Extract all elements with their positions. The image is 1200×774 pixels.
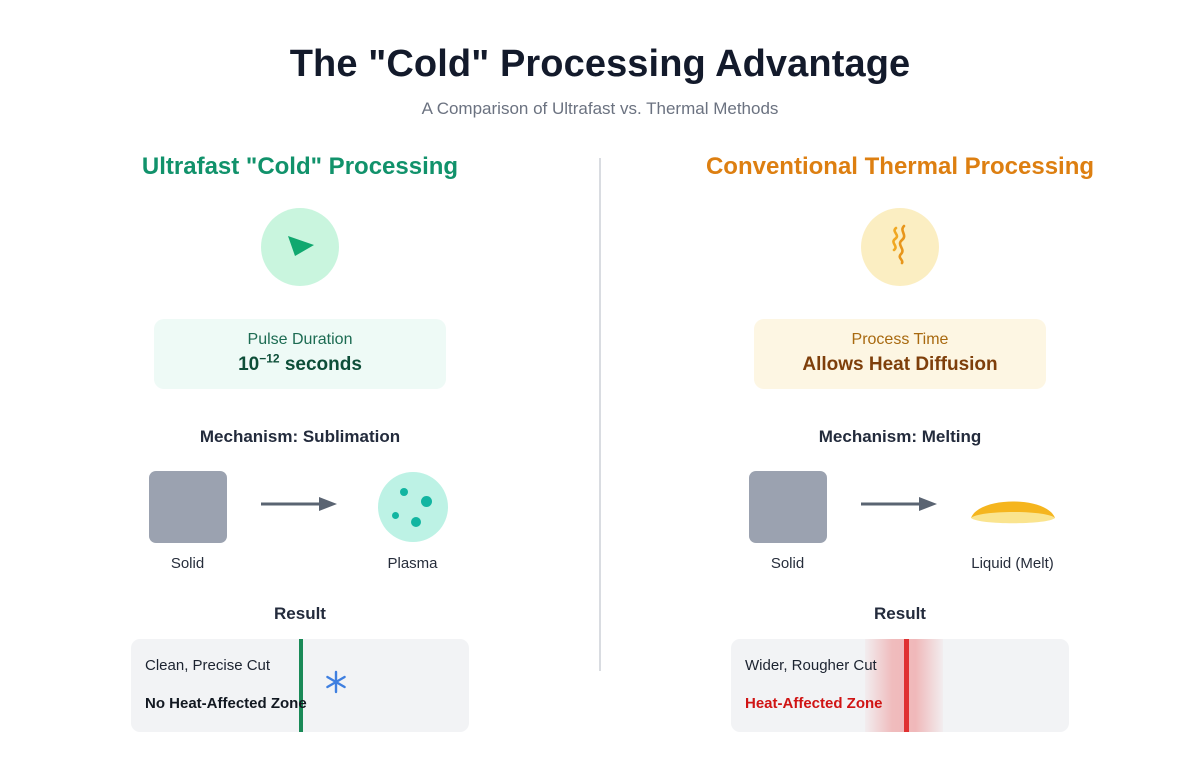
transition-arrow-right bbox=[845, 468, 955, 546]
result-line-heat-affected-zone: Heat-Affected Zone bbox=[745, 695, 883, 713]
state-label-plasma: Plasma bbox=[387, 555, 437, 572]
page-title: The "Cold" Processing Advantage bbox=[0, 44, 1200, 86]
column-title-thermal: Conventional Thermal Processing bbox=[706, 153, 1094, 182]
mechanism-row-sublimation: Solid bbox=[130, 468, 470, 572]
state-label-solid-right: Solid bbox=[771, 555, 804, 572]
heat-waves-icon-badge bbox=[861, 208, 939, 286]
plasma-visual bbox=[378, 468, 448, 546]
result-title-right: Result bbox=[874, 604, 926, 624]
transition-arrow-left bbox=[245, 468, 355, 546]
right-arrow-icon bbox=[859, 495, 941, 518]
plasma-dot bbox=[411, 517, 421, 527]
solid-visual-left bbox=[149, 468, 227, 546]
solid-visual-right bbox=[749, 468, 827, 546]
solid-block-icon bbox=[749, 471, 827, 543]
mechanism-row-melting: Solid bbox=[730, 468, 1070, 572]
melt-dome-icon bbox=[969, 488, 1057, 526]
page-subtitle: A Comparison of Ultrafast vs. Thermal Me… bbox=[0, 99, 1200, 119]
metric-box-process-time: Process Time Allows Heat Diffusion bbox=[754, 319, 1046, 389]
metric-value-unit: seconds bbox=[280, 354, 362, 375]
melt-visual bbox=[969, 468, 1057, 546]
metric-value-pulse-duration: 10−12 seconds bbox=[238, 355, 362, 376]
result-panel-heat-affected: Wider, Rougher Cut Heat-Affected Zone bbox=[731, 639, 1069, 732]
right-arrow-icon bbox=[259, 495, 341, 518]
plasma-circle-icon bbox=[378, 472, 448, 542]
result-panel-clean-cut: Clean, Precise Cut No Heat-Affected Zone bbox=[131, 639, 469, 732]
plasma-dot bbox=[392, 512, 399, 519]
header: The "Cold" Processing Advantage A Compar… bbox=[0, 0, 1200, 119]
laser-pulse-icon bbox=[281, 225, 319, 268]
comparison-columns: Ultrafast "Cold" Processing Pulse Durati… bbox=[0, 153, 1200, 732]
column-ultrafast-cold: Ultrafast "Cold" Processing Pulse Durati… bbox=[0, 153, 600, 732]
metric-label-process-time: Process Time bbox=[852, 331, 949, 349]
laser-pulse-icon-badge bbox=[261, 208, 339, 286]
solid-block-icon bbox=[149, 471, 227, 543]
state-solid-left: Solid bbox=[130, 468, 245, 572]
result-line-clean-precise-cut: Clean, Precise Cut bbox=[145, 657, 307, 675]
result-line-no-heat-affected-zone: No Heat-Affected Zone bbox=[145, 695, 307, 713]
column-divider bbox=[599, 158, 601, 671]
state-solid-right: Solid bbox=[730, 468, 845, 572]
mechanism-title-sublimation: Mechanism: Sublimation bbox=[200, 427, 400, 447]
metric-box-pulse-duration: Pulse Duration 10−12 seconds bbox=[154, 319, 446, 389]
column-title-ultrafast: Ultrafast "Cold" Processing bbox=[142, 153, 458, 182]
heat-waves-icon bbox=[881, 222, 919, 271]
plasma-dot bbox=[400, 488, 408, 496]
snowflake-icon bbox=[323, 669, 349, 700]
result-text-left: Clean, Precise Cut No Heat-Affected Zone bbox=[145, 639, 307, 732]
state-liquid-melt: Liquid (Melt) bbox=[955, 468, 1070, 572]
state-plasma: Plasma bbox=[355, 468, 470, 572]
metric-value-process-time: Allows Heat Diffusion bbox=[802, 355, 997, 376]
rough-cut-line bbox=[904, 639, 909, 732]
infographic-page: The "Cold" Processing Advantage A Compar… bbox=[0, 0, 1200, 774]
metric-value-exponent: −12 bbox=[259, 352, 279, 366]
plasma-dot bbox=[421, 496, 432, 507]
metric-value-base: 10 bbox=[238, 354, 259, 375]
result-line-wider-rougher-cut: Wider, Rougher Cut bbox=[745, 657, 883, 675]
state-label-solid-left: Solid bbox=[171, 555, 204, 572]
mechanism-title-melting: Mechanism: Melting bbox=[819, 427, 981, 447]
metric-label-pulse-duration: Pulse Duration bbox=[248, 331, 353, 349]
column-conventional-thermal: Conventional Thermal Processing Process … bbox=[600, 153, 1200, 732]
state-label-liquid-melt: Liquid (Melt) bbox=[971, 555, 1054, 572]
result-title-left: Result bbox=[274, 604, 326, 624]
result-text-right: Wider, Rougher Cut Heat-Affected Zone bbox=[745, 639, 883, 732]
